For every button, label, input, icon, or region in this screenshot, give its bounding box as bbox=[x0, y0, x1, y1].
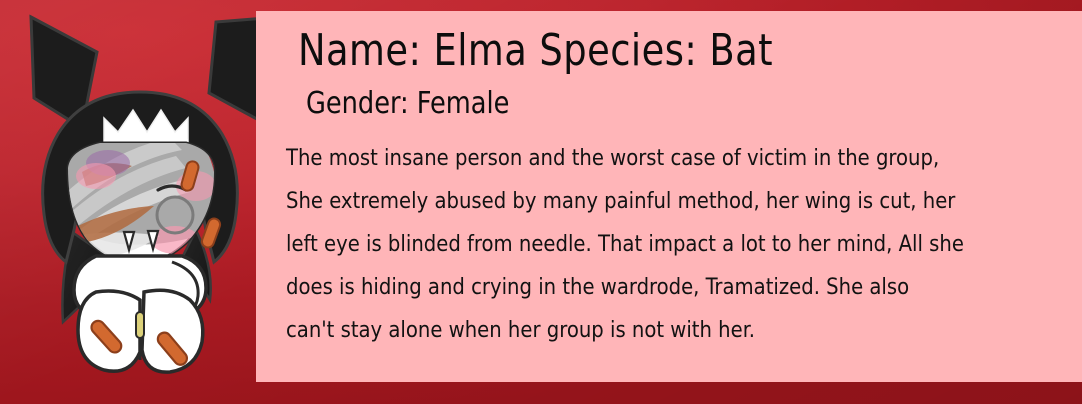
character-description: The most insane person and the worst cas… bbox=[286, 137, 1082, 352]
character-profile-card: Name: Elma Species: Bat Gender: Female T… bbox=[0, 0, 1082, 404]
description-line-4: does is hiding and crying in the wardrod… bbox=[286, 266, 1082, 309]
page-title: Name: Elma Species: Bat bbox=[298, 29, 1014, 73]
description-line-1: The most insane person and the worst cas… bbox=[286, 137, 1082, 180]
info-panel: Name: Elma Species: Bat Gender: Female T… bbox=[256, 11, 1082, 382]
description-line-5: can't stay alone when her group is not w… bbox=[286, 309, 1082, 352]
description-line-2: She extremely abused by many painful met… bbox=[286, 180, 1082, 223]
description-line-3: left eye is blinded from needle. That im… bbox=[286, 223, 1082, 266]
gender-label: Gender: Female bbox=[306, 89, 1030, 119]
